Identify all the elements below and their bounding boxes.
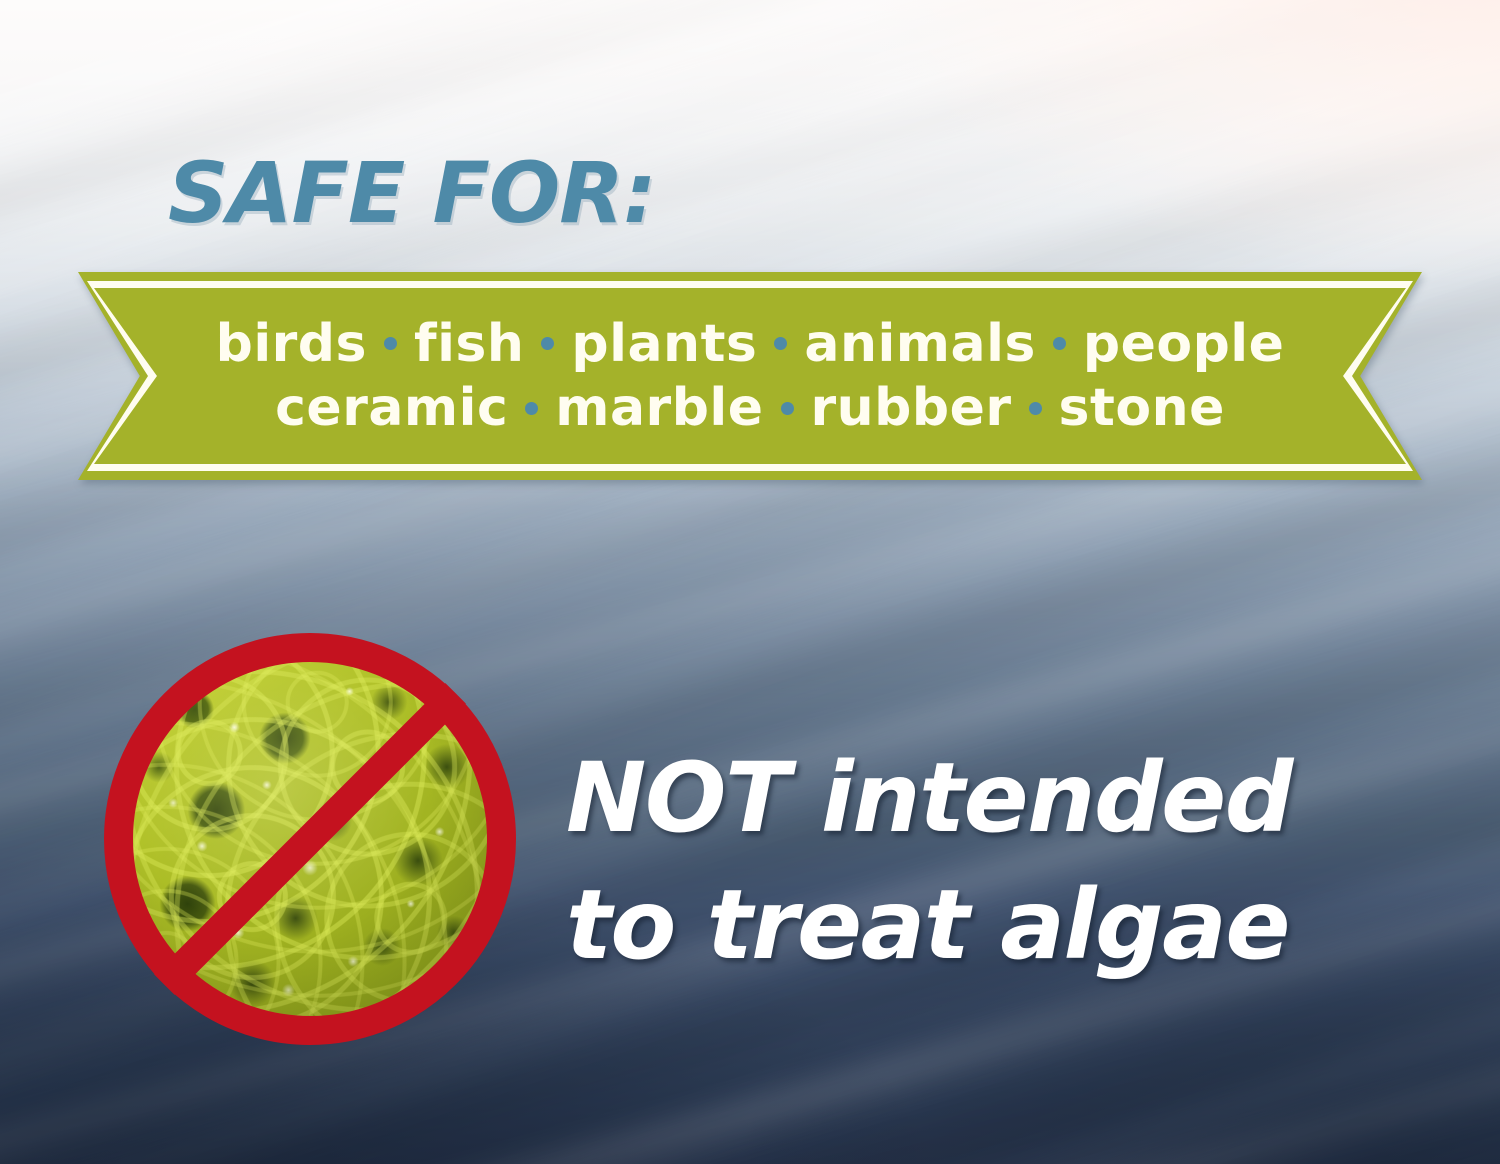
headline-line-1: NOT intended <box>566 735 1292 862</box>
safe-for-list-line-1: birdsfishplantsanimalspeople <box>216 315 1285 373</box>
safe-for-item: fish <box>414 315 524 373</box>
list-separator-dot <box>525 402 538 415</box>
safe-for-item: plants <box>571 315 757 373</box>
safe-for-item: animals <box>804 315 1035 373</box>
ribbon-face: birdsfishplantsanimalspeople ceramicmarb… <box>94 288 1406 464</box>
list-separator-dot <box>1053 337 1066 350</box>
safe-for-heading: SAFE FOR: <box>168 151 656 235</box>
infographic-canvas: SAFE FOR: birdsfishplantsanimalspeople c… <box>0 0 1500 1164</box>
safe-for-item: people <box>1083 315 1285 373</box>
safe-for-item: birds <box>216 315 367 373</box>
safe-for-item: rubber <box>811 379 1012 437</box>
safe-for-ribbon-banner: birdsfishplantsanimalspeople ceramicmarb… <box>78 272 1422 480</box>
list-separator-dot <box>541 337 554 350</box>
headline-line-2: to treat algae <box>566 862 1292 989</box>
list-separator-dot <box>774 337 787 350</box>
not-intended-headline: NOT intended to treat algae <box>566 735 1292 988</box>
list-separator-dot <box>384 337 397 350</box>
safe-for-item: stone <box>1059 379 1225 437</box>
list-separator-dot <box>781 402 794 415</box>
list-separator-dot <box>1029 402 1042 415</box>
safe-for-list-line-2: ceramicmarblerubberstone <box>275 379 1225 437</box>
safe-for-item: marble <box>555 379 763 437</box>
safe-for-item: ceramic <box>275 379 508 437</box>
no-algae-prohibition-icon <box>104 633 516 1045</box>
